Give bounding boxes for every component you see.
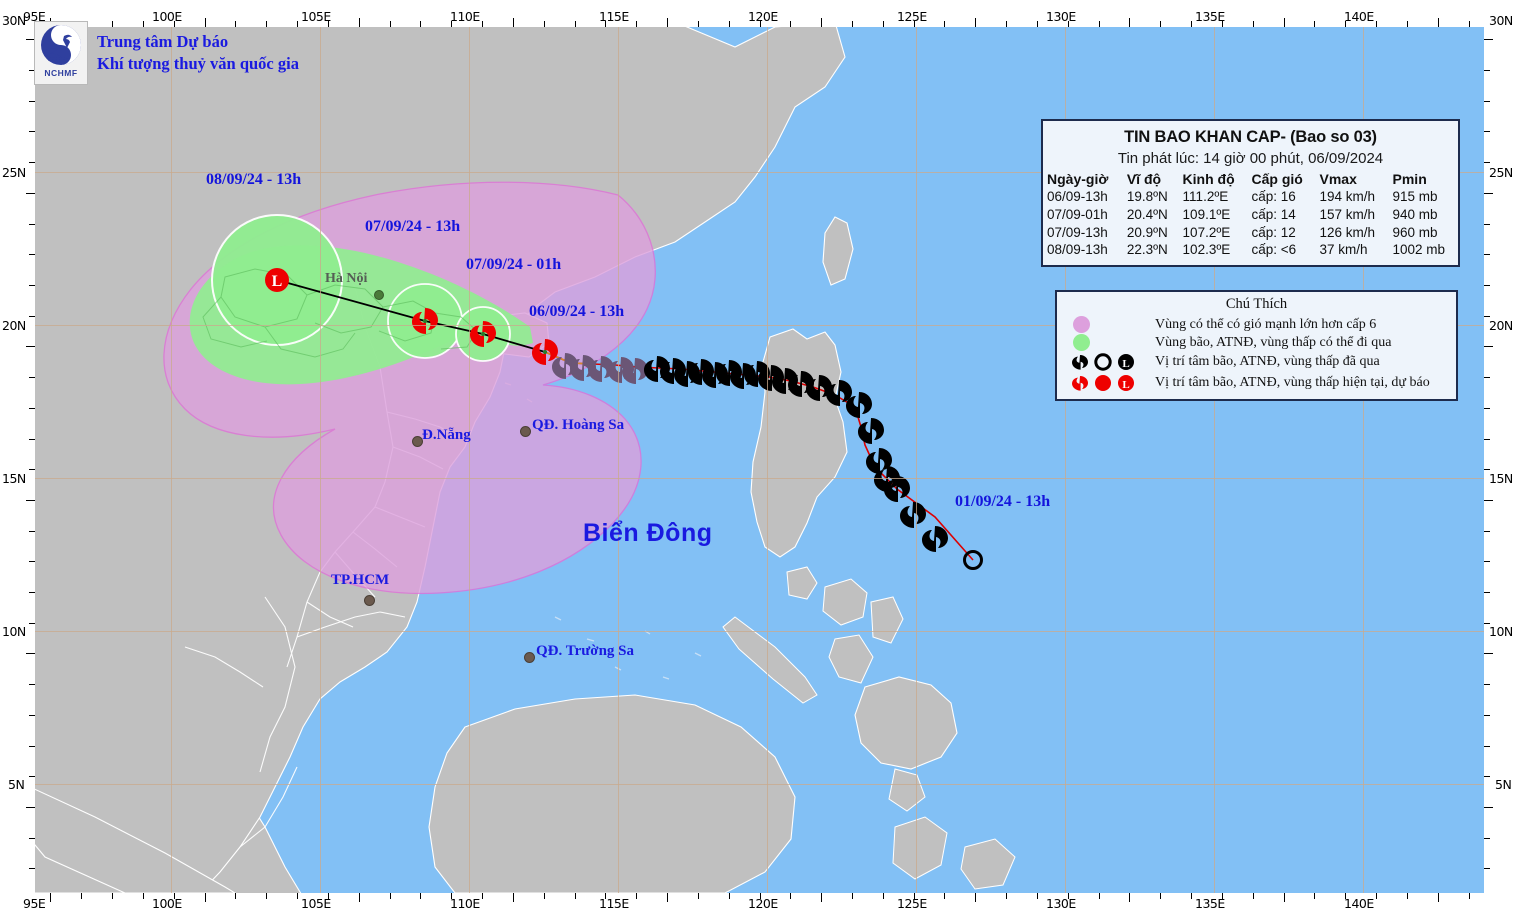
axis-tick xyxy=(1484,39,1493,40)
cell-datetime: 08/09-13h xyxy=(1043,241,1123,259)
city-label-hoangsa: QĐ. Hoàng Sa xyxy=(532,417,624,434)
axis-tick xyxy=(944,21,945,27)
table-row: 07/09-13h 20.9ºN 107.2ºE cấp: 12 126 km/… xyxy=(1043,224,1458,242)
axis-tick xyxy=(420,21,421,27)
axis-tick xyxy=(1068,893,1069,899)
lat-label-30-left: 30N xyxy=(2,13,26,28)
col-pmin: Pmin xyxy=(1389,171,1458,188)
axis-tick xyxy=(1484,592,1490,593)
axis-tick xyxy=(1484,623,1490,624)
axis-tick xyxy=(760,893,761,899)
gridline-lon-110 xyxy=(469,27,470,893)
lon-label-120-top: 120E xyxy=(748,9,778,24)
axis-tick xyxy=(1284,893,1285,902)
cell-datetime: 07/09-13h xyxy=(1043,224,1123,242)
axis-tick xyxy=(29,285,35,286)
lon-label-125-top: 125E xyxy=(897,9,927,24)
axis-tick xyxy=(944,893,945,899)
city-dot-truongsa xyxy=(524,652,535,663)
axis-tick xyxy=(1484,101,1490,102)
axis-tick xyxy=(1484,285,1490,286)
axis-tick xyxy=(1484,868,1490,869)
axis-tick xyxy=(1484,807,1493,808)
axis-tick xyxy=(29,101,35,102)
axis-tick xyxy=(975,18,976,27)
axis-tick xyxy=(914,21,915,27)
lon-label-135-bot: 135E xyxy=(1195,896,1225,911)
bulletin-title: TIN BAO KHAN CAP- (Bao so 03) xyxy=(1043,128,1458,147)
axis-tick xyxy=(729,21,730,27)
axis-tick xyxy=(1314,21,1315,27)
nchmf-logo-icon: NCHMF xyxy=(34,21,88,85)
axis-tick xyxy=(174,893,175,899)
axis-tick xyxy=(1129,893,1130,902)
axis-tick xyxy=(29,162,35,163)
cell-windlevel: cấp: 16 xyxy=(1247,188,1315,206)
axis-tick xyxy=(1129,18,1130,27)
track-label-2: 07/09/24 - 01h xyxy=(466,256,561,274)
swatch-magenta-icon xyxy=(1073,316,1090,333)
cell-windlevel: cấp: 12 xyxy=(1247,224,1315,242)
axis-tick xyxy=(575,893,576,899)
cell-lat: 20.9ºN xyxy=(1123,224,1179,242)
axis-tick xyxy=(29,715,35,716)
axis-tick xyxy=(1191,893,1192,899)
lon-label-95-bot: 95E xyxy=(23,896,45,911)
axis-tick xyxy=(1484,193,1493,194)
axis-tick xyxy=(1191,21,1192,27)
axis-tick xyxy=(667,18,668,27)
capital-label-hanoi: Hà Nội xyxy=(325,271,367,287)
axis-tick xyxy=(1469,21,1470,27)
axis-tick xyxy=(975,893,976,902)
gridline-lat-15 xyxy=(35,478,1484,479)
axis-tick xyxy=(513,893,514,902)
gridline-lon-125 xyxy=(916,27,917,893)
legend-title: Chú Thích xyxy=(1057,296,1456,313)
axis-tick xyxy=(451,893,452,899)
lat-label-10-right: 10N xyxy=(1489,624,1513,639)
axis-tick xyxy=(420,893,421,899)
bulletin-panel: TIN BAO KHAN CAP- (Bao so 03) Tin phát l… xyxy=(1041,119,1460,267)
axis-tick xyxy=(1376,21,1377,27)
logo-abbr: NCHMF xyxy=(44,68,77,78)
cell-lon: 109.1ºE xyxy=(1179,206,1248,224)
city-label-tphcm: TP.HCM xyxy=(331,572,389,589)
legend-label-0: Vùng có thể có gió mạnh lớn hơn cấp 6 xyxy=(1155,317,1376,333)
axis-tick xyxy=(1068,21,1069,27)
lat-label-10-left: 10N xyxy=(2,624,26,639)
axis-tick xyxy=(266,893,267,899)
lon-label-100-bot: 100E xyxy=(152,896,182,911)
axis-tick xyxy=(1438,18,1439,27)
axis-tick xyxy=(26,193,35,194)
axis-tick xyxy=(636,21,637,27)
lat-label-5-left: 5N xyxy=(8,777,24,792)
black-cyclone-trio-icon: L xyxy=(1069,352,1143,372)
axis-tick xyxy=(852,893,853,899)
cell-windlevel: cấp: 14 xyxy=(1247,206,1315,224)
swatch-green-icon xyxy=(1073,334,1090,351)
lat-label-15-right: 15N xyxy=(1489,471,1513,486)
axis-tick xyxy=(1407,21,1408,27)
lat-label-25-right: 25N xyxy=(1489,165,1513,180)
axis-tick xyxy=(1484,162,1490,163)
col-lat: Vĩ độ xyxy=(1123,171,1179,188)
cell-lat: 19.8ºN xyxy=(1123,188,1179,206)
axis-tick xyxy=(26,346,35,347)
lat-label-5-right: 5N xyxy=(1495,777,1511,792)
cell-vmax: 126 km/h xyxy=(1316,224,1389,242)
axis-tick xyxy=(235,893,236,899)
axis-tick xyxy=(29,408,35,409)
city-label-danang: Đ.Nẵng xyxy=(422,427,471,444)
axis-tick xyxy=(1484,377,1490,378)
lon-label-105-bot: 105E xyxy=(301,896,331,911)
track-label-0: 08/09/24 - 13h xyxy=(206,171,301,189)
lon-label-140-top: 140E xyxy=(1344,9,1374,24)
capital-dot-hanoi xyxy=(374,290,384,300)
red-cyclone-trio-icon: L xyxy=(1069,373,1143,393)
axis-tick xyxy=(575,21,576,27)
axis-tick xyxy=(1314,893,1315,899)
legend-symbol-green xyxy=(1069,334,1147,351)
col-lon: Kinh độ xyxy=(1179,171,1248,188)
axis-tick xyxy=(698,893,699,899)
axis-tick xyxy=(544,893,545,899)
cell-pmin: 960 mb xyxy=(1389,224,1458,242)
track-label-4: 01/09/24 - 13h xyxy=(955,493,1050,511)
axis-tick xyxy=(1484,254,1490,255)
axis-tick xyxy=(26,807,35,808)
lon-label-135-top: 135E xyxy=(1195,9,1225,24)
legend-symbol-red-trio: L xyxy=(1069,373,1147,393)
cell-pmin: 915 mb xyxy=(1389,188,1458,206)
axis-tick xyxy=(1037,21,1038,27)
axis-tick xyxy=(698,21,699,27)
gridline-lon-115 xyxy=(618,27,619,893)
forecast-table: Ngày-giờ Vĩ độ Kinh độ Cấp gió Vmax Pmin… xyxy=(1043,171,1458,259)
axis-tick xyxy=(914,893,915,899)
axis-tick xyxy=(1160,893,1161,899)
cell-pmin: 1002 mb xyxy=(1389,241,1458,259)
svg-text:L: L xyxy=(1122,358,1129,370)
axis-tick xyxy=(29,316,35,317)
axis-tick xyxy=(667,893,668,902)
axis-tick xyxy=(29,623,35,624)
axis-tick xyxy=(544,21,545,27)
axis-tick xyxy=(29,439,35,440)
table-row: 07/09-01h 20.4ºN 109.1ºE cấp: 14 157 km/… xyxy=(1043,206,1458,224)
cell-vmax: 157 km/h xyxy=(1316,206,1389,224)
gridline-lon-100 xyxy=(171,27,172,893)
axis-tick xyxy=(359,18,360,27)
axis-tick xyxy=(1160,21,1161,27)
lon-label-115-top: 115E xyxy=(599,9,629,24)
gridline-lat-10 xyxy=(35,631,1484,632)
cell-lat: 20.4ºN xyxy=(1123,206,1179,224)
axis-tick xyxy=(29,377,35,378)
axis-tick xyxy=(1376,893,1377,899)
axis-tick xyxy=(359,893,360,902)
axis-tick xyxy=(1099,893,1100,899)
cell-datetime: 06/09-13h xyxy=(1043,188,1123,206)
org-line-2: Khí tượng thuỷ văn quốc gia xyxy=(97,53,299,75)
legend-label-2: Vị trí tâm bão, ATNĐ, vùng thấp đã qua xyxy=(1155,354,1380,370)
lon-label-130-bot: 130E xyxy=(1046,896,1076,911)
axis-tick xyxy=(1407,893,1408,899)
table-row: 06/09-13h 19.8ºN 111.2ºE cấp: 16 194 km/… xyxy=(1043,188,1458,206)
axis-tick xyxy=(513,18,514,27)
axis-tick xyxy=(1484,500,1493,501)
axis-tick xyxy=(1484,131,1490,132)
cell-lon: 102.3ºE xyxy=(1179,241,1248,259)
axis-tick xyxy=(29,684,35,685)
axis-tick xyxy=(328,21,329,27)
org-line-1: Trung tâm Dự báo xyxy=(97,31,299,53)
lon-label-130-top: 130E xyxy=(1046,9,1076,24)
axis-tick xyxy=(328,893,329,899)
axis-tick xyxy=(29,131,35,132)
map-figure: L Biển Đông Hà Nội Đ.Nẵng TP.HCM QĐ. Hoà… xyxy=(0,0,1519,919)
axis-tick xyxy=(883,893,884,899)
axis-tick xyxy=(1469,893,1470,899)
cell-datetime: 07/09-01h xyxy=(1043,206,1123,224)
axis-tick xyxy=(1484,408,1490,409)
axis-tick xyxy=(605,21,606,27)
axis-tick xyxy=(29,592,35,593)
lat-label-30-right: 30N xyxy=(1489,13,1513,28)
axis-tick xyxy=(1006,893,1007,899)
axis-tick xyxy=(821,893,822,902)
axis-tick xyxy=(790,893,791,899)
axis-tick xyxy=(390,21,391,27)
axis-tick xyxy=(482,21,483,27)
legend-label-3: Vị trí tâm bão, ATNĐ, vùng thấp hiện tại… xyxy=(1155,375,1430,391)
legend-item-magenta-zone: Vùng có thể có gió mạnh lớn hơn cấp 6 xyxy=(1057,316,1456,334)
city-dot-tphcm xyxy=(364,595,375,606)
axis-tick xyxy=(26,653,35,654)
axis-tick xyxy=(451,21,452,27)
axis-tick xyxy=(1222,21,1223,27)
axis-tick xyxy=(883,21,884,27)
axis-tick xyxy=(1484,224,1490,225)
lon-label-110-bot: 110E xyxy=(450,896,480,911)
cell-pmin: 940 mb xyxy=(1389,206,1458,224)
legend-symbol-magenta xyxy=(1069,316,1147,333)
gridline-lat-5 xyxy=(35,784,1484,785)
axis-tick xyxy=(1253,893,1254,899)
lon-label-120-bot: 120E xyxy=(748,896,778,911)
axis-tick xyxy=(1345,21,1346,27)
axis-tick xyxy=(821,18,822,27)
axis-tick xyxy=(205,893,206,902)
axis-tick xyxy=(790,21,791,27)
cell-lat: 22.3ºN xyxy=(1123,241,1179,259)
axis-tick xyxy=(29,838,35,839)
axis-tick xyxy=(297,893,298,899)
nchmf-logo: NCHMF Trung tâm Dự báo Khí tượng thuỷ vă… xyxy=(34,21,299,85)
axis-tick xyxy=(605,893,606,899)
axis-tick xyxy=(81,893,82,899)
cell-lon: 107.2ºE xyxy=(1179,224,1248,242)
axis-tick xyxy=(1484,746,1490,747)
axis-tick xyxy=(760,21,761,27)
axis-tick xyxy=(1484,469,1490,470)
axis-tick xyxy=(50,893,51,902)
axis-tick xyxy=(1484,838,1490,839)
axis-tick xyxy=(729,893,730,899)
legend-label-1: Vùng bão, ATNĐ, vùng thấp có thể đi qua xyxy=(1155,335,1391,351)
axis-tick xyxy=(852,21,853,27)
axis-tick xyxy=(29,254,35,255)
cell-vmax: 37 km/h xyxy=(1316,241,1389,259)
cell-vmax: 194 km/h xyxy=(1316,188,1389,206)
axis-tick xyxy=(1484,653,1493,654)
axis-tick xyxy=(29,868,35,869)
gridline-lon-120 xyxy=(767,27,768,893)
axis-tick xyxy=(1253,21,1254,27)
bulletin-issue-time: Tin phát lúc: 14 giờ 00 phút, 06/09/2024 xyxy=(1043,150,1458,167)
legend-panel: Chú Thích Vùng có thể có gió mạnh lớn hơ… xyxy=(1055,290,1458,401)
axis-tick xyxy=(1484,715,1490,716)
axis-tick xyxy=(1484,346,1493,347)
axis-tick xyxy=(112,893,113,899)
lon-label-105-top: 105E xyxy=(301,9,331,24)
axis-tick xyxy=(1222,893,1223,899)
cell-windlevel: cấp: <6 xyxy=(1247,241,1315,259)
axis-tick xyxy=(390,893,391,899)
axis-tick xyxy=(1345,893,1346,899)
axis-tick xyxy=(143,893,144,899)
track-label-1: 07/09/24 - 13h xyxy=(365,218,460,236)
axis-tick xyxy=(1438,893,1439,902)
forecast-marker-low-L: L xyxy=(265,268,289,292)
col-vmax: Vmax xyxy=(1316,171,1389,188)
axis-tick xyxy=(1484,684,1490,685)
axis-tick xyxy=(29,561,35,562)
col-windlevel: Cấp gió xyxy=(1247,171,1315,188)
axis-tick xyxy=(29,746,35,747)
lat-label-20-right: 20N xyxy=(1489,318,1513,333)
axis-tick xyxy=(482,893,483,899)
org-name: Trung tâm Dự báo Khí tượng thuỷ văn quốc… xyxy=(97,31,299,75)
lon-label-110-top: 110E xyxy=(450,9,480,24)
forecast-table-header: Ngày-giờ Vĩ độ Kinh độ Cấp gió Vmax Pmin xyxy=(1043,171,1458,188)
svg-text:L: L xyxy=(1122,379,1129,391)
axis-tick xyxy=(1484,776,1490,777)
lat-label-15-left: 15N xyxy=(2,471,26,486)
gridline-lon-105 xyxy=(320,27,321,893)
cell-lon: 111.2ºE xyxy=(1179,188,1248,206)
track-label-3: 06/09/24 - 13h xyxy=(529,303,624,321)
axis-tick xyxy=(1006,21,1007,27)
axis-tick xyxy=(29,776,35,777)
axis-tick xyxy=(29,224,35,225)
axis-tick xyxy=(1284,18,1285,27)
axis-tick xyxy=(29,531,35,532)
axis-tick xyxy=(636,893,637,899)
legend-item-green-zone: Vùng bão, ATNĐ, vùng thấp có thể đi qua xyxy=(1057,334,1456,352)
axis-tick xyxy=(26,500,35,501)
lat-label-20-left: 20N xyxy=(2,318,26,333)
axis-tick xyxy=(1037,893,1038,899)
axis-tick xyxy=(1484,70,1490,71)
axis-tick xyxy=(1484,561,1490,562)
lat-label-25-left: 25N xyxy=(2,165,26,180)
lon-label-125-bot: 125E xyxy=(897,896,927,911)
axis-tick xyxy=(1484,439,1490,440)
logo-emblem-icon xyxy=(36,22,86,70)
svg-text:L: L xyxy=(272,273,283,290)
legend-item-past-positions: L Vị trí tâm bão, ATNĐ, vùng thấp đã qua xyxy=(1057,352,1456,373)
axis-tick xyxy=(1484,531,1490,532)
city-label-truongsa: QĐ. Trường Sa xyxy=(536,643,634,660)
axis-tick xyxy=(1484,316,1490,317)
lon-label-140-bot: 140E xyxy=(1344,896,1374,911)
axis-tick xyxy=(1099,21,1100,27)
table-row: 08/09-13h 22.3ºN 102.3ºE cấp: <6 37 km/h… xyxy=(1043,241,1458,259)
col-datetime: Ngày-giờ xyxy=(1043,171,1123,188)
city-dot-hoangsa xyxy=(520,426,531,437)
legend-symbol-black-trio: L xyxy=(1069,352,1147,372)
legend-item-current-forecast: L Vị trí tâm bão, ATNĐ, vùng thấp hiện t… xyxy=(1057,373,1456,394)
lon-label-115-bot: 115E xyxy=(599,896,629,911)
sea-name-label: Biển Đông xyxy=(583,519,713,548)
axis-tick xyxy=(29,469,35,470)
